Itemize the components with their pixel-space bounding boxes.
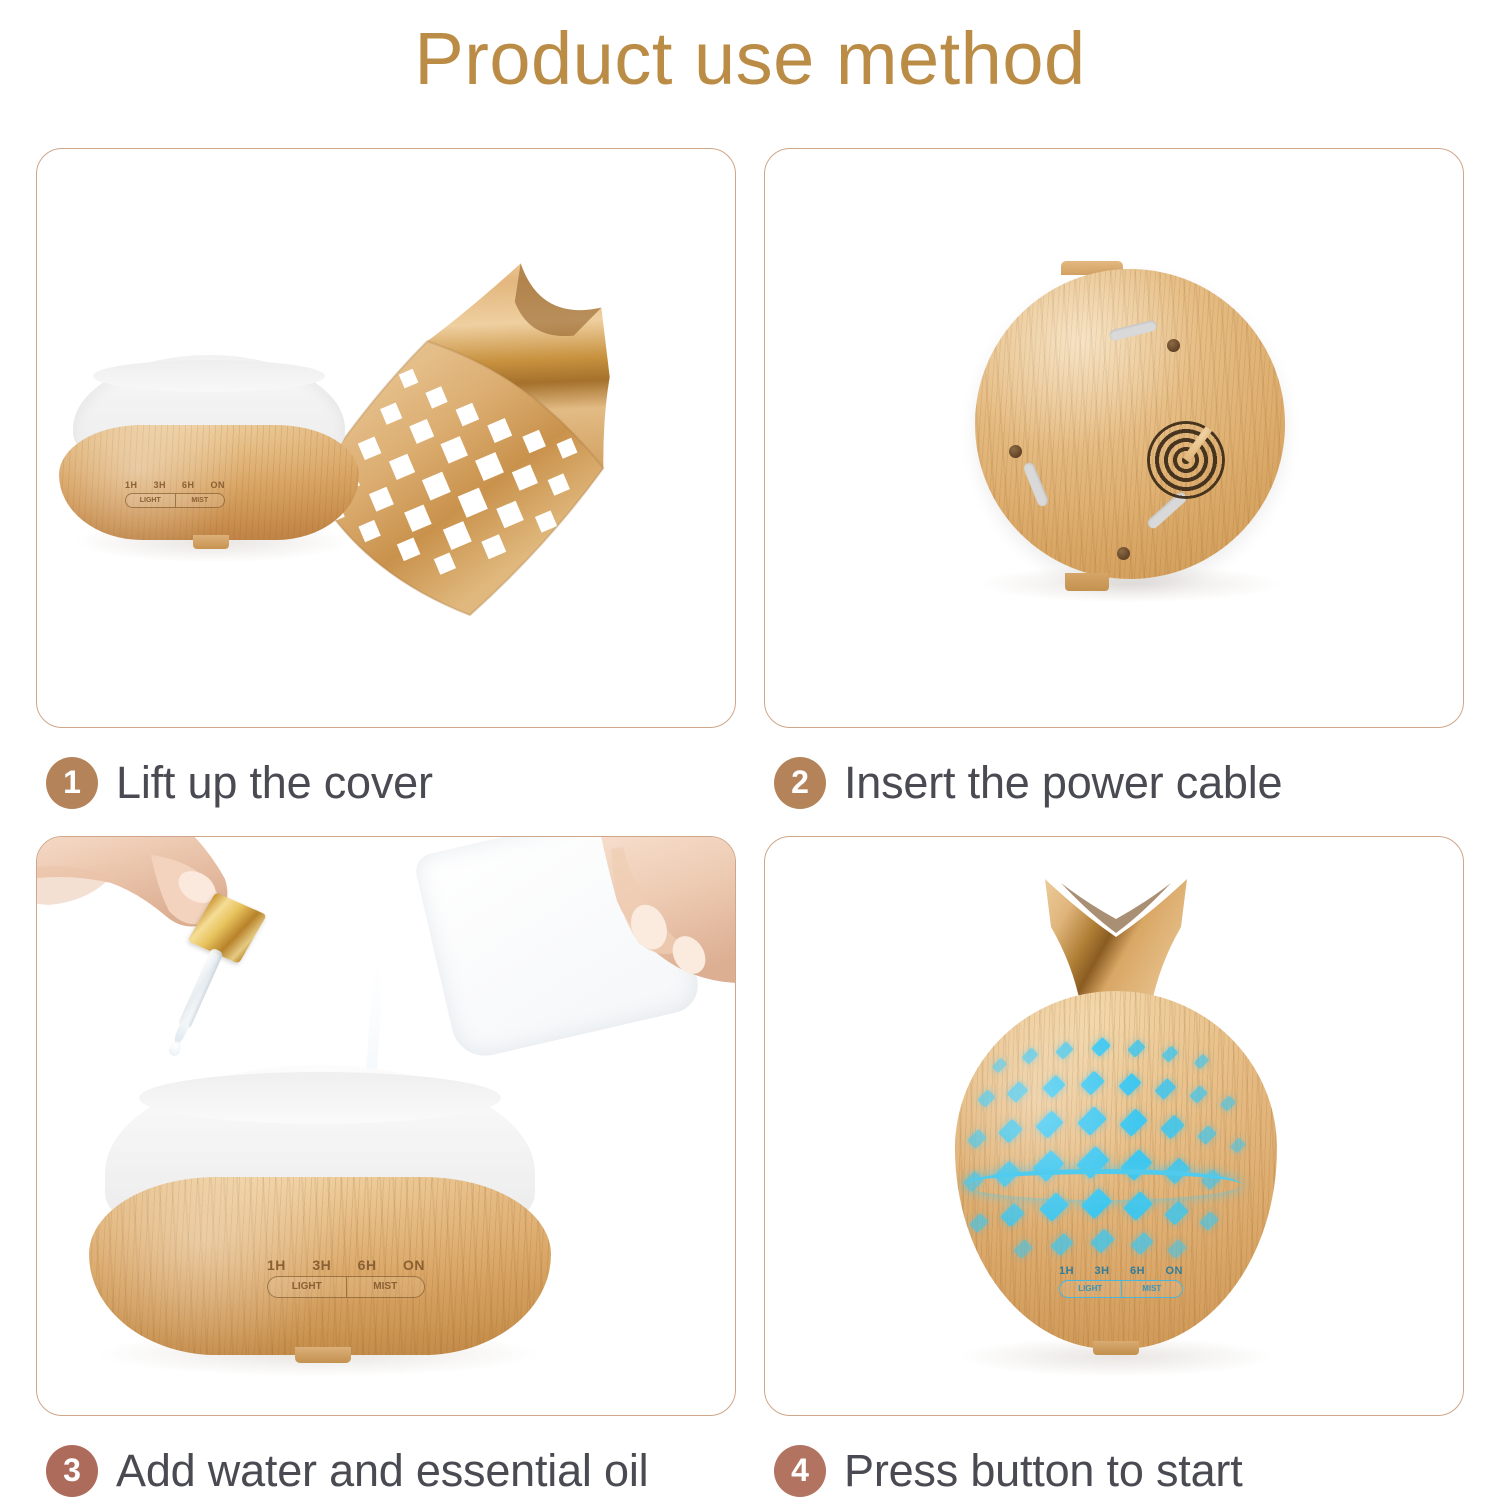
step-1-caption: 1 Lift up the cover: [46, 746, 746, 820]
step-card-3: 1H 3H 6H ON LIGHT MIST 3 Add water and e: [36, 836, 736, 1416]
timer-label-6h: 6H: [182, 480, 195, 490]
oil-droplet: [167, 1040, 183, 1058]
step-badge-2: 2: [774, 757, 826, 809]
step-2-image-frame: [764, 148, 1464, 728]
timer-label-3h: 3H: [312, 1257, 331, 1273]
step-card-4: 1H 3H 6H ON LIGHT MIST 4 Pre: [764, 836, 1464, 1416]
timer-label-1h: 1H: [125, 480, 138, 490]
step-caption-text-3: Add water and essential oil: [116, 1445, 648, 1497]
base-tab-3: [295, 1347, 351, 1363]
screw-icon: [1009, 445, 1022, 458]
step-badge-3: 3: [46, 1445, 98, 1497]
timer-label-6h: 6H: [1130, 1265, 1145, 1277]
step-card-2: 2 Insert the power cable: [764, 148, 1464, 728]
control-panel-1[interactable]: 1H 3H 6H ON LIGHT MIST: [125, 480, 225, 508]
timer-label-on: ON: [1166, 1265, 1184, 1277]
step-1-image-frame: 1H 3H 6H ON LIGHT MIST: [36, 148, 736, 728]
step-4-caption: 4 Press button to start: [774, 1434, 1474, 1508]
step-caption-text-1: Lift up the cover: [116, 757, 433, 809]
control-panel-3[interactable]: 1H 3H 6H ON LIGHT MIST: [267, 1257, 425, 1298]
timer-label-on: ON: [211, 480, 226, 490]
page-title: Product use method: [0, 16, 1500, 101]
infographic-page: Product use method: [0, 0, 1500, 1500]
timer-label-1h: 1H: [267, 1257, 286, 1273]
timer-labels-1: 1H 3H 6H ON: [125, 480, 225, 490]
mist-button-3[interactable]: MIST: [347, 1277, 425, 1297]
base-tab-4: [1093, 1341, 1139, 1355]
power-port-notch: [1065, 573, 1109, 591]
timer-labels-3: 1H 3H 6H ON: [267, 1257, 425, 1273]
diffuser-base-3: 1H 3H 6H ON LIGHT MIST: [89, 1065, 551, 1355]
timer-label-on: ON: [403, 1257, 425, 1273]
timer-label-3h: 3H: [154, 480, 167, 490]
step-caption-text-2: Insert the power cable: [844, 757, 1282, 809]
timer-labels-4: 1H 3H 6H ON: [1059, 1265, 1183, 1277]
step-3-caption: 3 Add water and essential oil: [46, 1434, 746, 1508]
light-button-4[interactable]: LIGHT: [1060, 1281, 1122, 1297]
assembled-vase-diffuser: 1H 3H 6H ON LIGHT MIST: [941, 873, 1291, 1373]
step-badge-1: 1: [46, 757, 98, 809]
timer-label-1h: 1H: [1059, 1265, 1074, 1277]
step-caption-text-4: Press button to start: [844, 1445, 1243, 1497]
fan-vent-icon: [1147, 421, 1225, 499]
timer-label-3h: 3H: [1095, 1265, 1110, 1277]
control-panel-4[interactable]: 1H 3H 6H ON LIGHT MIST: [1059, 1265, 1183, 1298]
button-row-1: LIGHT MIST: [125, 493, 225, 508]
light-button-3[interactable]: LIGHT: [268, 1277, 347, 1297]
base-tab-1: [193, 535, 229, 549]
step-4-image-frame: 1H 3H 6H ON LIGHT MIST: [764, 836, 1464, 1416]
hand-right-svg: [577, 836, 736, 1017]
step-badge-4: 4: [774, 1445, 826, 1497]
timer-label-6h: 6H: [358, 1257, 377, 1273]
hand-with-cup: [577, 836, 736, 1007]
button-row-4: LIGHT MIST: [1059, 1280, 1183, 1298]
dropper-glass-tube: [178, 947, 224, 1029]
light-button-1[interactable]: LIGHT: [126, 494, 176, 507]
mist-button-4[interactable]: MIST: [1122, 1281, 1183, 1297]
step-card-1: 1H 3H 6H ON LIGHT MIST 1 Lift up the cov: [36, 148, 736, 728]
diffuser-bottom-disc: [975, 269, 1285, 579]
vase-neck-svg: [1041, 873, 1191, 1005]
led-light-ring: [965, 1169, 1241, 1200]
steps-grid: 1H 3H 6H ON LIGHT MIST 1 Lift up the cov: [0, 148, 1500, 1500]
step-3-image-frame: 1H 3H 6H ON LIGHT MIST: [36, 836, 736, 1416]
mist-button-1[interactable]: MIST: [176, 494, 225, 507]
step-2-caption: 2 Insert the power cable: [774, 746, 1474, 820]
button-row-3: LIGHT MIST: [267, 1276, 425, 1298]
diffuser-base-1: 1H 3H 6H ON LIGHT MIST: [59, 355, 359, 540]
screw-icon: [1117, 547, 1130, 560]
screw-icon: [1167, 339, 1180, 352]
vase-neck: [1041, 873, 1191, 1005]
